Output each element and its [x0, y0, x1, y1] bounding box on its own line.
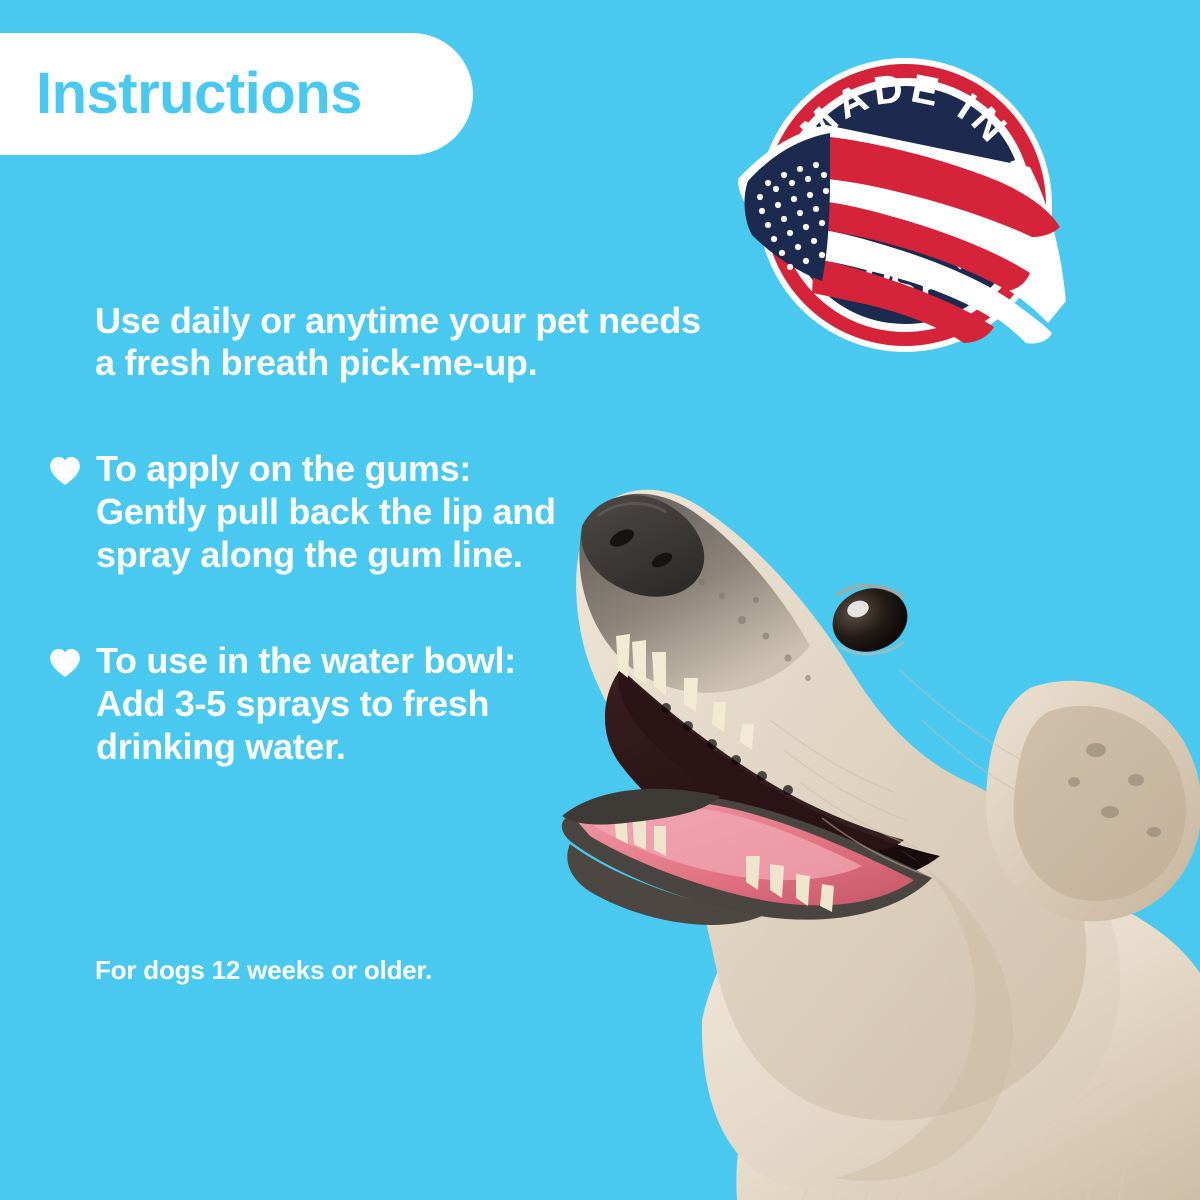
list-item-detail: Add 3-5 sprays to fresh drinking water. — [96, 683, 489, 767]
list-item-lead: To apply on the gums: — [96, 447, 596, 490]
list-item-detail: Gently pull back the lip and spray along… — [96, 491, 556, 575]
list-item-lead: To use in the water bowl: — [96, 639, 596, 682]
list-item-text: To use in the water bowl: Add 3-5 sprays… — [96, 639, 596, 769]
instructions-panel: Instructions · MADE IN · · USA · — [0, 0, 1200, 1200]
age-footnote: For dogs 12 weeks or older. — [95, 955, 432, 986]
list-item-text: To apply on the gums: Gently pull back t… — [96, 447, 596, 577]
heart-icon — [48, 454, 82, 488]
header-pill: Instructions — [0, 33, 473, 155]
list-item: To apply on the gums: Gently pull back t… — [48, 447, 720, 577]
page-title: Instructions — [36, 65, 362, 123]
instructions-body: Use daily or anytime your pet needs a fr… — [0, 300, 720, 768]
intro-paragraph: Use daily or anytime your pet needs a fr… — [95, 300, 720, 385]
made-in-usa-badge: · MADE IN · · USA · — [730, 55, 1070, 355]
list-item: To use in the water bowl: Add 3-5 sprays… — [48, 639, 720, 769]
heart-icon — [48, 646, 82, 680]
